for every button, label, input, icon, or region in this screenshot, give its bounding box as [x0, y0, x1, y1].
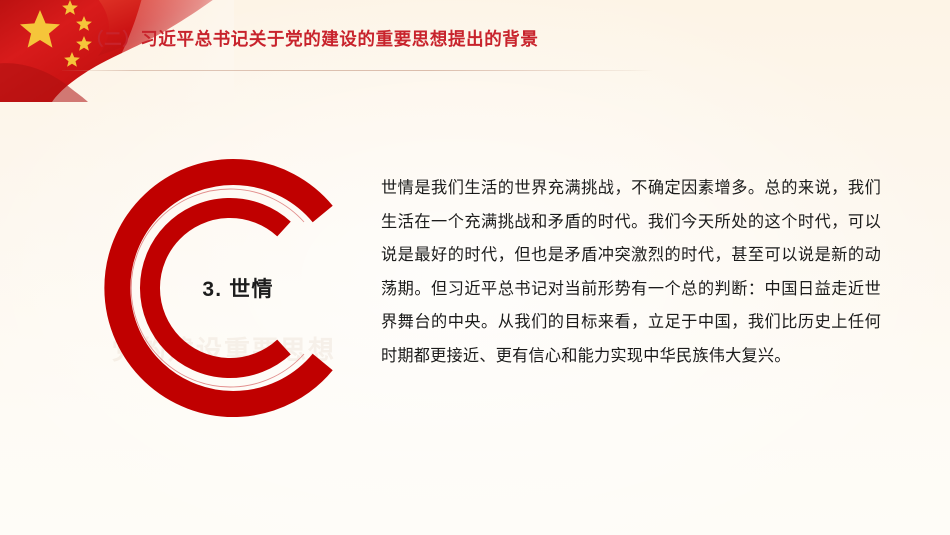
page-title: （二）习近平总书记关于党的建设的重要思想提出的背景	[86, 29, 539, 50]
title-divider	[62, 70, 654, 71]
arc-center-label: 3. 世情	[88, 152, 360, 424]
presentation-slide: （二）习近平总书记关于党的建设的重要思想提出的背景 党的建设重要思想 3. 世情…	[0, 0, 950, 535]
body-paragraph: 世情是我们生活的世界充满挑战，不确定因素增多。总的来说，我们生活在一个充满挑战和…	[381, 172, 881, 374]
slide-header: （二）习近平总书记关于党的建设的重要思想提出的背景	[0, 0, 950, 80]
